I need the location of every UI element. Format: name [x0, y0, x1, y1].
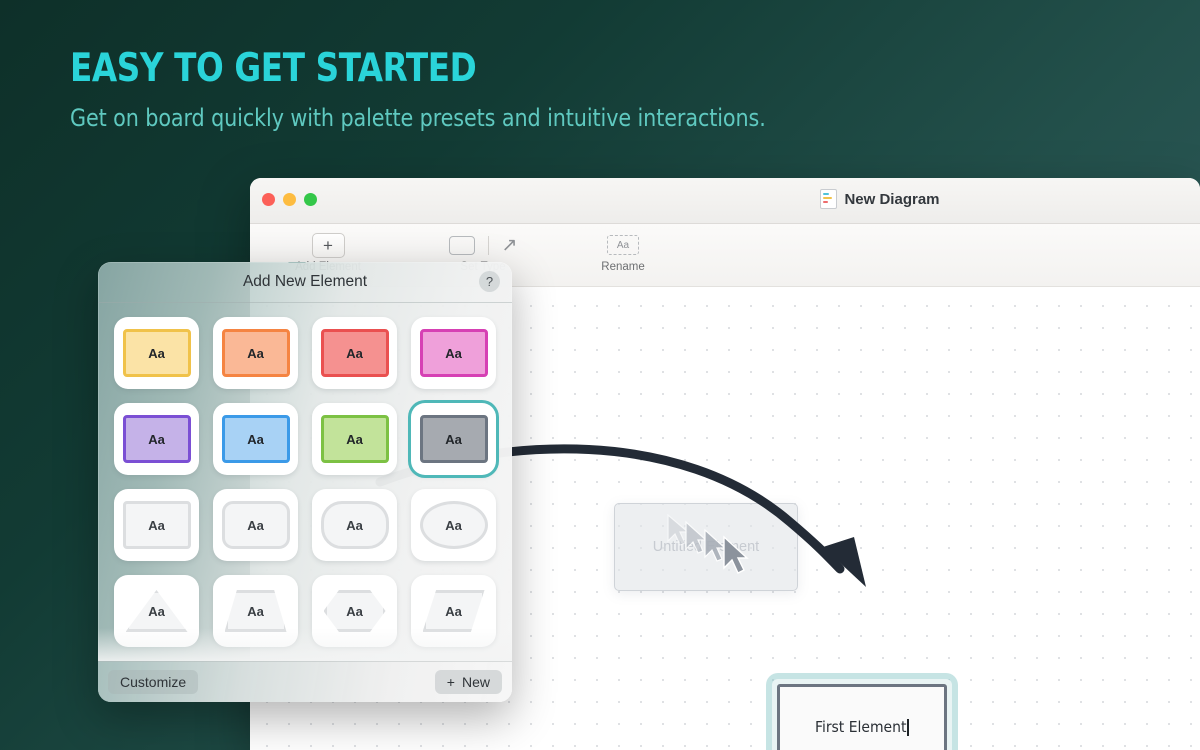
- swatch-gray: Aa: [420, 415, 488, 463]
- ghost-element[interactable]: Untitled Element: [614, 503, 798, 591]
- shape-tile-hexagon[interactable]: Aa: [312, 575, 397, 647]
- shape-tile-rectangle[interactable]: Aa: [114, 489, 199, 561]
- diagram-node-body[interactable]: First Element: [777, 684, 947, 750]
- swatch-pink: Aa: [420, 329, 488, 377]
- diagram-node[interactable]: First Element: [772, 679, 952, 750]
- page-subtitle: Get on board quickly with palette preset…: [70, 104, 766, 132]
- shape-trapezoid: Aa: [225, 590, 287, 632]
- shape-ellipse: Aa: [420, 501, 488, 549]
- new-button-label: New: [462, 674, 490, 690]
- shape-rounded-rect: Aa: [222, 501, 290, 549]
- element-swatch-grid: Aa Aa Aa Aa Aa Aa Aa Aa: [98, 303, 512, 647]
- plus-icon: +: [447, 674, 455, 690]
- swatch-tile-red[interactable]: Aa: [312, 317, 397, 389]
- swatch-tile-purple[interactable]: Aa: [114, 403, 199, 475]
- toolbar-rename[interactable]: Aa Rename: [568, 230, 678, 273]
- swatch-green: Aa: [321, 415, 389, 463]
- shape-tile-ellipse[interactable]: Aa: [411, 489, 496, 561]
- toolbar-divider: [488, 236, 489, 255]
- shape-tile-stadium[interactable]: Aa: [312, 489, 397, 561]
- shape-tile-rounded-rect[interactable]: Aa: [213, 489, 298, 561]
- shape-hexagon: Aa: [324, 590, 386, 632]
- popover-footer: Customize + New: [98, 661, 512, 702]
- shape-triangle: Aa: [126, 590, 188, 632]
- text-caret: [907, 719, 909, 736]
- shape-tile-triangle[interactable]: Aa: [114, 575, 199, 647]
- window-title-text: New Diagram: [844, 191, 939, 208]
- swatch-tile-yellow[interactable]: Aa: [114, 317, 199, 389]
- customize-button[interactable]: Customize: [108, 670, 198, 694]
- document-icon: [820, 189, 837, 209]
- swatch-tile-gray[interactable]: Aa: [411, 403, 496, 475]
- swatch-tile-blue[interactable]: Aa: [213, 403, 298, 475]
- ghost-element-label: Untitled Element: [653, 539, 759, 555]
- swatch-yellow: Aa: [123, 329, 191, 377]
- add-new-element-popover: Add New Element ? Aa Aa Aa Aa Aa Aa: [98, 262, 512, 702]
- popover-title: Add New Element: [243, 273, 367, 291]
- swatch-tile-orange[interactable]: Aa: [213, 317, 298, 389]
- shape-stadium: Aa: [321, 501, 389, 549]
- shape-tile-parallelogram[interactable]: Aa: [411, 575, 496, 647]
- swatch-tile-green[interactable]: Aa: [312, 403, 397, 475]
- diagram-node-label: First Element: [815, 718, 906, 736]
- swatch-orange: Aa: [222, 329, 290, 377]
- help-icon[interactable]: ?: [479, 271, 500, 292]
- popover-header: Add New Element ?: [98, 262, 512, 303]
- aa-text-icon[interactable]: Aa: [607, 235, 639, 255]
- window-title: New Diagram: [250, 189, 1200, 209]
- rounded-rect-icon[interactable]: [449, 236, 475, 255]
- swatch-blue: Aa: [222, 415, 290, 463]
- plus-icon[interactable]: +: [312, 233, 345, 258]
- swatch-red: Aa: [321, 329, 389, 377]
- swatch-tile-pink[interactable]: Aa: [411, 317, 496, 389]
- toolbar-label-rename: Rename: [568, 261, 678, 273]
- swatch-purple: Aa: [123, 415, 191, 463]
- promo-stage: EASY TO GET STARTED Get on board quickly…: [0, 0, 1200, 750]
- shape-parallelogram: Aa: [423, 590, 485, 632]
- shape-rectangle: Aa: [123, 501, 191, 549]
- window-titlebar: New Diagram: [250, 178, 1200, 224]
- new-button[interactable]: + New: [435, 670, 502, 694]
- arrow-icon[interactable]: ↗: [502, 236, 518, 255]
- page-title: EASY TO GET STARTED: [70, 46, 476, 91]
- shape-tile-trapezoid[interactable]: Aa: [213, 575, 298, 647]
